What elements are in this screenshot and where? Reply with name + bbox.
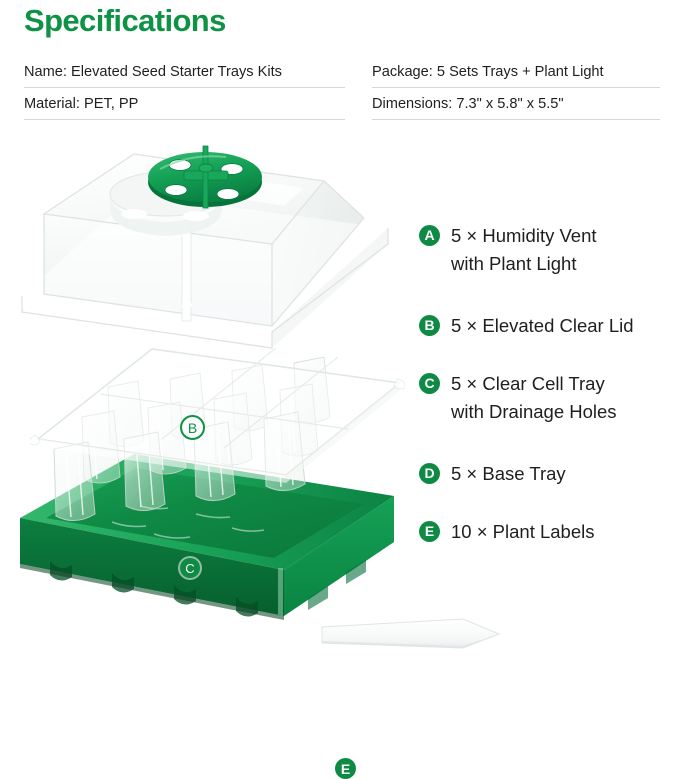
spec-row-dimensions: Dimensions: 7.3" x 5.8" x 5.5" bbox=[372, 88, 660, 120]
spec-package-text: Package: 5 Sets Trays + Plant Light bbox=[372, 63, 604, 81]
legend-item-a: A 5 × Humidity Vent with Plant Light bbox=[419, 222, 597, 278]
legend-label-c: 5 × Clear Cell Tray with Drainage Holes bbox=[451, 370, 617, 426]
spec-column-right: Package: 5 Sets Trays + Plant Light Dime… bbox=[372, 56, 660, 120]
spec-material-text: Material: PET, PP bbox=[24, 95, 138, 113]
legend-label-a: 5 × Humidity Vent with Plant Light bbox=[451, 222, 597, 278]
legend-item-d: D 5 × Base Tray bbox=[419, 460, 566, 488]
spec-row-material: Material: PET, PP bbox=[24, 88, 345, 120]
legend-label-e: 10 × Plant Labels bbox=[451, 518, 594, 546]
legend-badge-d: D bbox=[419, 463, 440, 484]
legend-badge-e: E bbox=[419, 521, 440, 542]
legend-label-d: 5 × Base Tray bbox=[451, 460, 566, 488]
spec-name-text: Name: Elevated Seed Starter Trays Kits bbox=[24, 63, 282, 81]
legend-label-b: 5 × Elevated Clear Lid bbox=[451, 312, 634, 340]
legend-item-e: E 10 × Plant Labels bbox=[419, 518, 594, 546]
plant-label-illustration bbox=[318, 617, 503, 653]
spec-column-left: Name: Elevated Seed Starter Trays Kits M… bbox=[24, 56, 345, 120]
legend-item-b: B 5 × Elevated Clear Lid bbox=[419, 312, 634, 340]
marker-d: D bbox=[182, 732, 202, 752]
product-exploded-view: A B C D E bbox=[0, 128, 410, 664]
page-title: Specifications bbox=[24, 0, 226, 44]
humidity-vent-illustration bbox=[140, 138, 270, 218]
spec-row-name: Name: Elevated Seed Starter Trays Kits bbox=[24, 56, 345, 88]
marker-e: E bbox=[335, 758, 356, 779]
specifications-table: Name: Elevated Seed Starter Trays Kits M… bbox=[0, 56, 679, 118]
marker-c: C bbox=[180, 558, 200, 578]
legend-badge-a: A bbox=[419, 225, 440, 246]
legend-item-c: C 5 × Clear Cell Tray with Drainage Hole… bbox=[419, 370, 617, 426]
marker-b: B bbox=[180, 415, 205, 440]
marker-a: A bbox=[177, 291, 197, 311]
spec-dimensions-text: Dimensions: 7.3" x 5.8" x 5.5" bbox=[372, 95, 564, 113]
legend-badge-b: B bbox=[419, 315, 440, 336]
legend-badge-c: C bbox=[419, 373, 440, 394]
spec-row-package: Package: 5 Sets Trays + Plant Light bbox=[372, 56, 660, 88]
